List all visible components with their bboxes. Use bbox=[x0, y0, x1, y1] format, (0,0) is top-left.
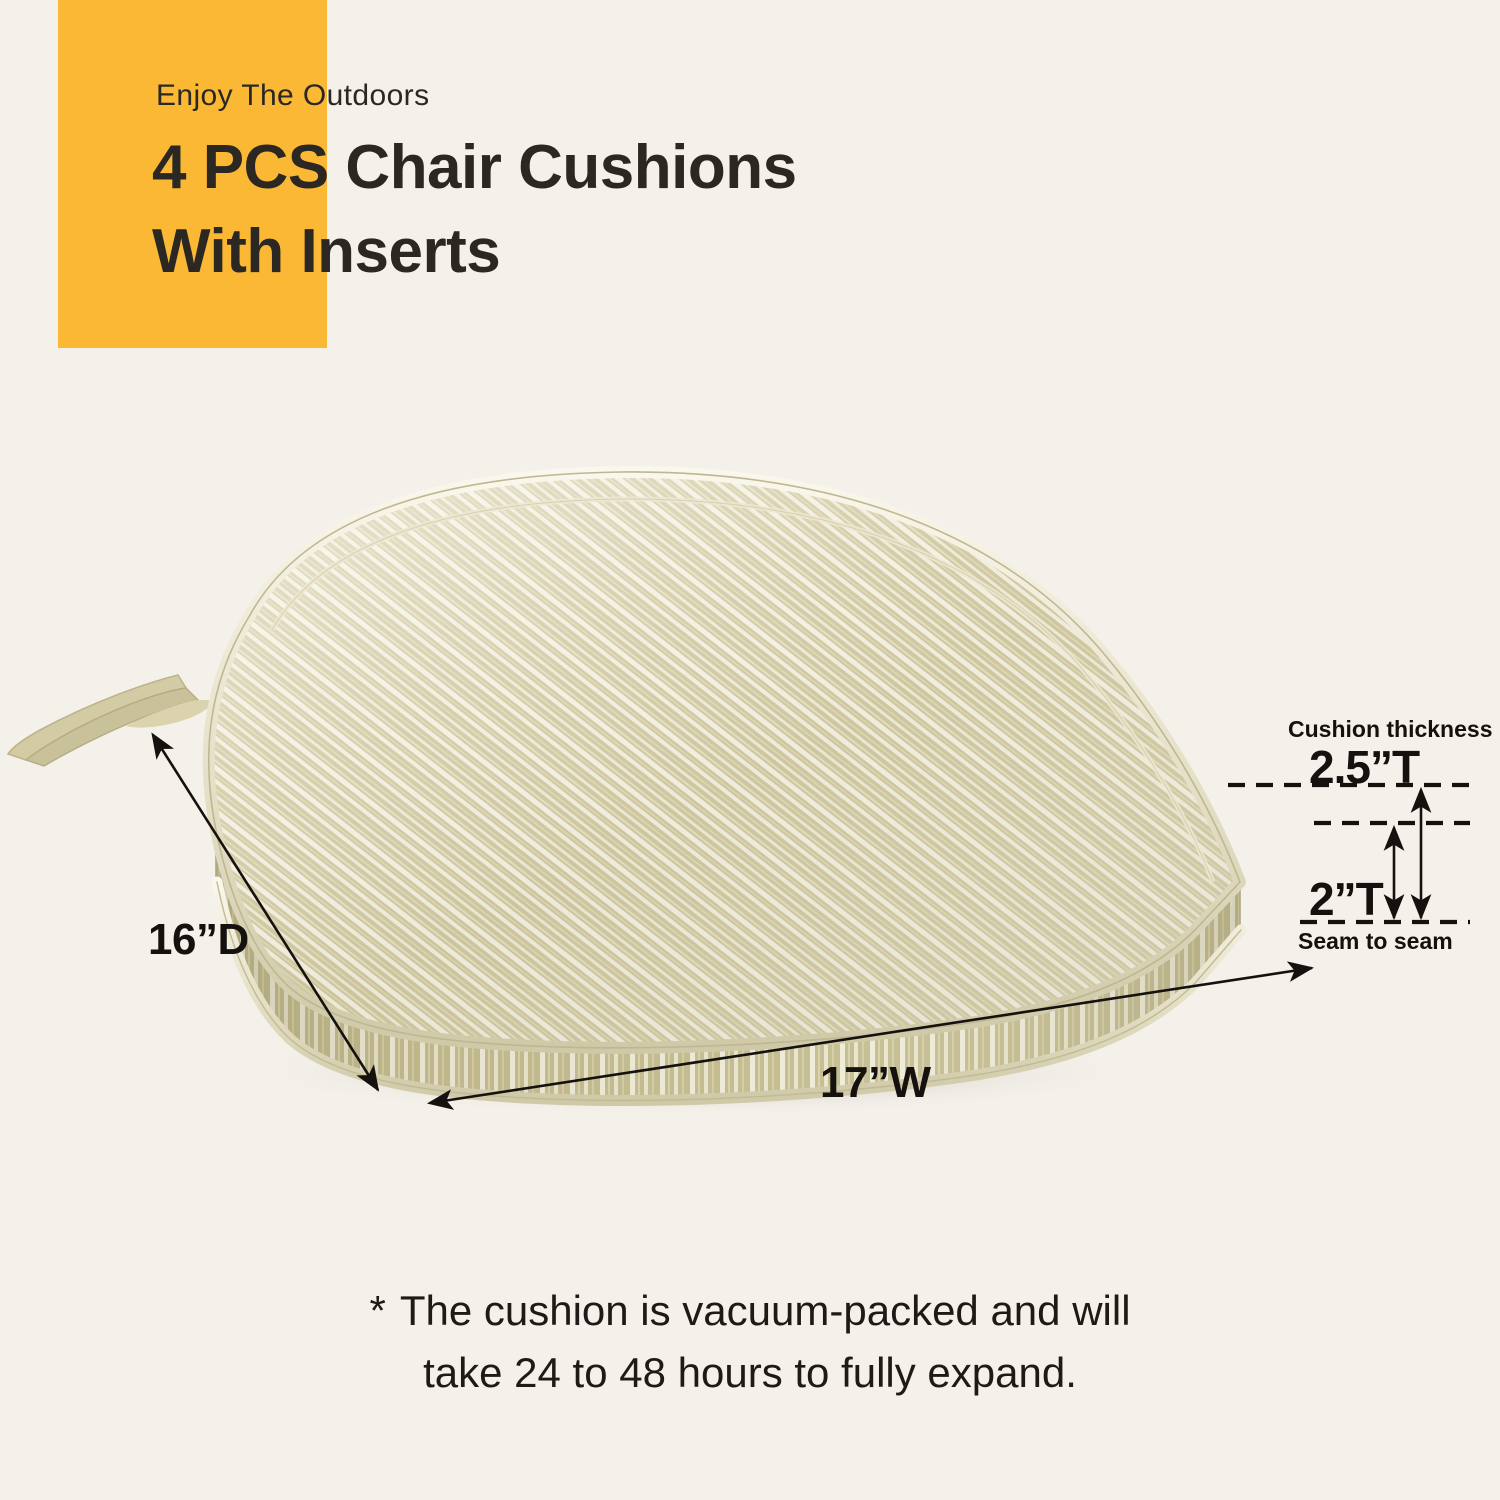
width-dimension-label: 17”W bbox=[820, 1058, 930, 1108]
footnote: *The cushion is vacuum-packed and will t… bbox=[0, 1280, 1500, 1404]
total-thickness-label: 2.5”T bbox=[1309, 740, 1419, 794]
seam-thickness-label: 2”T bbox=[1309, 872, 1383, 926]
seam-to-seam-caption: Seam to seam bbox=[1298, 928, 1453, 955]
asterisk-icon: * bbox=[369, 1287, 399, 1334]
product-infographic: Enjoy The Outdoors 4 PCS Chair Cushions … bbox=[0, 0, 1500, 1500]
headline-line-1: 4 PCS Chair Cushions bbox=[152, 126, 1052, 210]
page-title: 4 PCS Chair Cushions With Inserts bbox=[152, 126, 1052, 294]
cushion-body bbox=[180, 450, 1290, 1130]
cushion-illustration bbox=[0, 430, 1400, 1130]
footnote-text-1: The cushion is vacuum-packed and will bbox=[400, 1287, 1131, 1334]
cushion-thickness-caption: Cushion thickness bbox=[1288, 716, 1492, 743]
eyebrow-text: Enjoy The Outdoors bbox=[156, 79, 429, 113]
depth-dimension-label: 16”D bbox=[148, 915, 249, 965]
headline-line-2: With Inserts bbox=[152, 210, 1052, 294]
footnote-line-2: take 24 to 48 hours to fully expand. bbox=[0, 1342, 1500, 1404]
footnote-line-1: *The cushion is vacuum-packed and will bbox=[0, 1280, 1500, 1342]
tie-strap bbox=[8, 675, 214, 766]
